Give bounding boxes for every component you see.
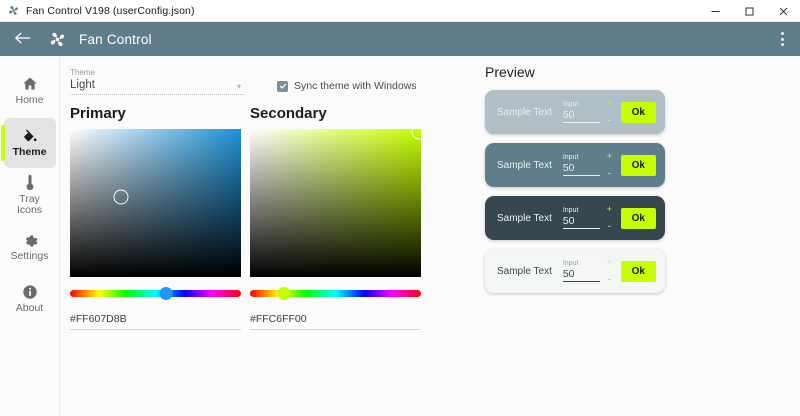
- close-button[interactable]: [766, 0, 800, 22]
- theme-options-row: Theme Light ▾ Sync theme with Windows: [70, 68, 800, 95]
- secondary-hex-value: #FFC6FF00: [250, 313, 421, 329]
- preview-input-underline: [563, 122, 600, 123]
- paint-bucket-icon: [21, 127, 38, 144]
- secondary-hex-field[interactable]: #FFC6FF00: [250, 313, 421, 330]
- preview-plus-button[interactable]: +: [607, 152, 612, 161]
- content-area: Home Theme: [0, 56, 800, 416]
- preview-card: Sample Text Input 50 + - Ok: [485, 196, 665, 240]
- theme-panel: Theme Light ▾ Sync theme with Windows: [60, 56, 800, 416]
- primary-black-gradient: [70, 129, 241, 277]
- primary-picker-cursor[interactable]: [114, 190, 129, 205]
- theme-select-value: Light: [70, 78, 95, 94]
- preview-input-value: 50: [563, 109, 600, 122]
- preview-sample-text: Sample Text: [497, 266, 552, 277]
- preview-input[interactable]: Input 50: [563, 260, 600, 282]
- secondary-hex-underline: [250, 329, 421, 330]
- app-header-bar: Fan Control: [0, 22, 800, 56]
- thermometer-icon: [24, 174, 36, 191]
- sidebar-item-home[interactable]: Home: [4, 66, 56, 116]
- secondary-hue-thumb[interactable]: [278, 287, 291, 300]
- preview-stepper[interactable]: + -: [605, 97, 613, 127]
- preview-plus-button[interactable]: +: [607, 258, 612, 267]
- sidebar-item-label: About: [16, 303, 43, 315]
- fan-icon: [0, 4, 26, 17]
- primary-heading: Primary: [70, 105, 250, 122]
- preview-input[interactable]: Input 50: [563, 154, 600, 176]
- theme-select-underline: [70, 94, 245, 95]
- preview-ok-button[interactable]: Ok: [621, 155, 656, 176]
- secondary-heading: Secondary: [250, 105, 430, 122]
- window-title: Fan Control V198 (userConfig.json): [26, 5, 195, 17]
- sync-theme-checkbox[interactable]: Sync theme with Windows: [277, 80, 417, 92]
- preview-sample-text: Sample Text: [497, 107, 552, 118]
- secondary-black-gradient: [250, 129, 421, 277]
- window-controls: [698, 0, 800, 22]
- sidebar-nav: Home Theme: [0, 56, 60, 416]
- preview-cards: Sample Text Input 50 + - Ok Sample Text: [485, 90, 665, 293]
- primary-hex-value: #FF607D8B: [70, 313, 241, 329]
- gear-icon: [22, 231, 38, 248]
- preview-input[interactable]: Input 50: [563, 101, 600, 123]
- fan-control-window: Fan Control V198 (userConfig.json): [0, 0, 800, 416]
- sidebar-item-label: Tray Icons: [17, 194, 42, 217]
- primary-hue-slider[interactable]: [70, 287, 241, 300]
- sidebar-item-label: Theme: [13, 147, 47, 159]
- sync-theme-label: Sync theme with Windows: [294, 80, 417, 92]
- more-vertical-icon[interactable]: [777, 28, 788, 50]
- preview-stepper[interactable]: + -: [605, 150, 613, 180]
- secondary-color-column: Secondary #FFC6FF00: [250, 105, 430, 330]
- sidebar-item-theme[interactable]: Theme: [4, 118, 56, 168]
- preview-stepper[interactable]: + -: [605, 256, 613, 286]
- primary-hex-field[interactable]: #FF607D8B: [70, 313, 241, 330]
- preview-input-underline: [563, 175, 600, 176]
- preview-input-underline: [563, 281, 600, 282]
- preview-ok-button[interactable]: Ok: [621, 261, 656, 282]
- app-title: Fan Control: [79, 32, 152, 47]
- home-icon: [22, 75, 38, 92]
- sidebar-item-label: Home: [15, 95, 43, 107]
- preview-minus-button[interactable]: -: [608, 116, 611, 125]
- check-icon: [277, 81, 288, 92]
- preview-input-value: 50: [563, 162, 600, 175]
- preview-input-label: Input: [563, 260, 600, 268]
- preview-plus-button[interactable]: +: [607, 205, 612, 214]
- preview-minus-button[interactable]: -: [608, 275, 611, 284]
- primary-hue-track: [70, 290, 241, 297]
- primary-color-column: Primary #FF607D8B: [70, 105, 250, 330]
- preview-input-label: Input: [563, 207, 600, 215]
- sidebar-item-settings[interactable]: Settings: [4, 222, 56, 272]
- preview-sample-text: Sample Text: [497, 213, 552, 224]
- preview-heading: Preview: [485, 64, 535, 80]
- primary-hex-underline: [70, 329, 241, 330]
- primary-saturation-value-picker[interactable]: [70, 129, 241, 277]
- window-titlebar: Fan Control V198 (userConfig.json): [0, 0, 800, 22]
- preview-input[interactable]: Input 50: [563, 207, 600, 229]
- secondary-hue-slider[interactable]: [250, 287, 421, 300]
- preview-input-value: 50: [563, 215, 600, 228]
- minimize-button[interactable]: [698, 0, 732, 22]
- preview-card: Sample Text Input 50 + - Ok: [485, 143, 665, 187]
- chevron-down-icon[interactable]: ▾: [237, 82, 245, 91]
- preview-card: Sample Text Input 50 + - Ok: [485, 249, 665, 293]
- preview-card: Sample Text Input 50 + - Ok: [485, 90, 665, 134]
- sidebar-item-tray-icons[interactable]: Tray Icons: [4, 170, 56, 220]
- secondary-saturation-value-picker[interactable]: [250, 129, 421, 277]
- preview-input-label: Input: [563, 101, 600, 109]
- fan-logo-icon: [48, 30, 67, 49]
- preview-stepper[interactable]: + -: [605, 203, 613, 233]
- secondary-hue-track: [250, 290, 421, 297]
- preview-input-underline: [563, 228, 600, 229]
- preview-plus-button[interactable]: +: [607, 99, 612, 108]
- back-arrow-icon[interactable]: [14, 31, 36, 48]
- sidebar-item-about[interactable]: About: [4, 274, 56, 324]
- sidebar-item-label: Settings: [11, 251, 49, 263]
- preview-ok-button[interactable]: Ok: [621, 208, 656, 229]
- maximize-button[interactable]: [732, 0, 766, 22]
- color-pickers: Primary #FF607D8B: [70, 105, 800, 330]
- tray-label-line1: Tray: [19, 193, 40, 205]
- preview-input-value: 50: [563, 268, 600, 281]
- theme-select-label: Theme: [70, 68, 245, 78]
- primary-hue-thumb[interactable]: [159, 287, 172, 300]
- preview-input-label: Input: [563, 154, 600, 162]
- tray-label-line2: Icons: [17, 204, 42, 216]
- theme-select[interactable]: Theme Light ▾: [70, 68, 245, 95]
- preview-sample-text: Sample Text: [497, 160, 552, 171]
- preview-minus-button[interactable]: -: [608, 169, 611, 178]
- preview-ok-button[interactable]: Ok: [621, 102, 656, 123]
- preview-minus-button[interactable]: -: [608, 222, 611, 231]
- info-icon: [22, 283, 38, 300]
